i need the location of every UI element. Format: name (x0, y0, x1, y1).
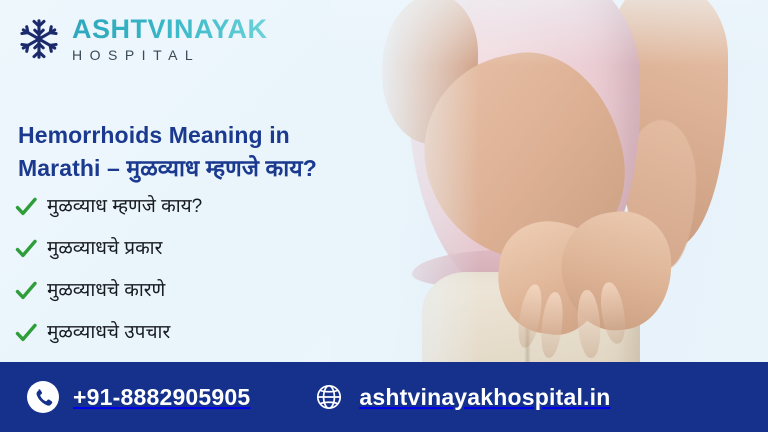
list-item-label: मुळव्याधचे उपचार (47, 322, 170, 345)
contact-footer: +91-8882905905 ashtvinayakhospital.in (0, 362, 768, 432)
check-icon (14, 195, 38, 219)
page-title: Hemorrhoids Meaning in Marathi – मुळव्या… (18, 119, 378, 184)
list-item: मुळव्याध म्हणजे काय? (14, 186, 344, 228)
list-item: मुळव्याधचे प्रकार (14, 228, 344, 270)
check-icon (14, 279, 38, 303)
check-icon (14, 321, 38, 345)
topic-list: मुळव्याध म्हणजे काय? मुळव्याधचे प्रकार म… (14, 186, 344, 354)
list-item-label: मुळव्याध म्हणजे काय? (47, 196, 202, 219)
list-item-label: मुळव्याधचे प्रकार (47, 238, 162, 261)
promo-banner: ASHTVINAYAK HOSPITAL Hemorrhoids Meaning… (0, 0, 768, 432)
phone-number: +91-8882905905 (73, 384, 250, 411)
globe-icon (312, 380, 346, 414)
list-item-label: मुळव्याधचे कारणे (47, 280, 165, 303)
brand-subtitle: HOSPITAL (72, 48, 268, 62)
brand-logo: ASHTVINAYAK HOSPITAL (16, 16, 268, 62)
website-url: ashtvinayakhospital.in (359, 384, 610, 411)
website-contact[interactable]: ashtvinayakhospital.in (312, 380, 610, 414)
phone-contact[interactable]: +91-8882905905 (26, 380, 250, 414)
list-item: मुळव्याधचे उपचार (14, 312, 344, 354)
list-item: मुळव्याधचे कारणे (14, 270, 344, 312)
brand-wordmark: ASHTVINAYAK HOSPITAL (72, 16, 268, 62)
patient-photo (330, 0, 768, 366)
brand-name: ASHTVINAYAK (72, 16, 268, 43)
snowflake-icon (16, 16, 62, 62)
phone-icon (26, 380, 60, 414)
check-icon (14, 237, 38, 261)
